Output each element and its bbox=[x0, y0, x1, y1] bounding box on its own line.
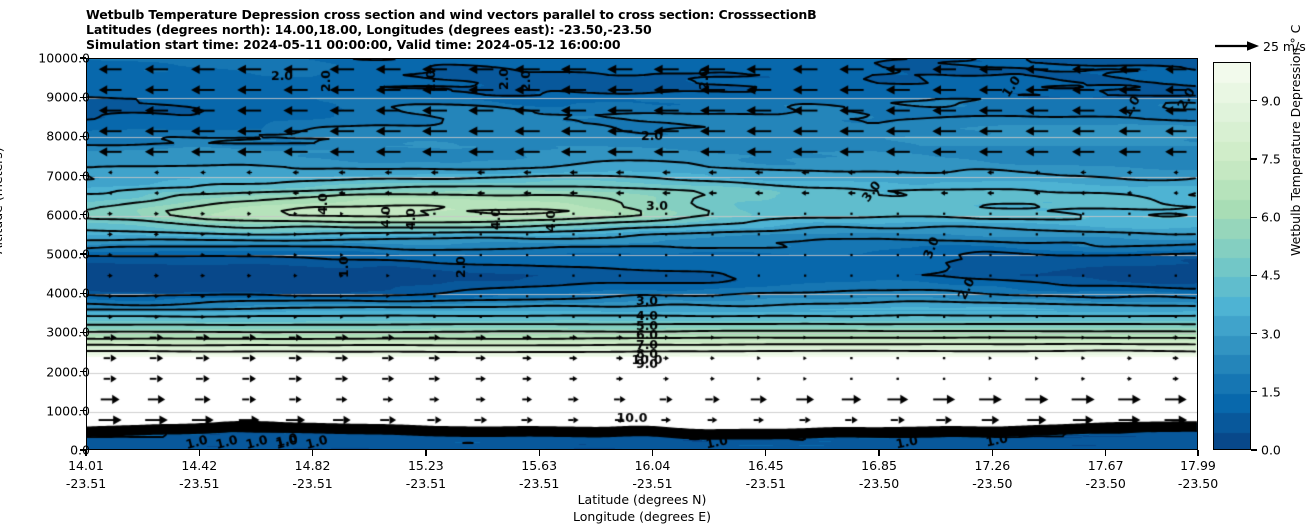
colorbar-tick-mark bbox=[1251, 275, 1257, 276]
x-tick-latitude: 14.01 bbox=[66, 458, 106, 473]
colorbar-tick-label: 9.0 bbox=[1261, 93, 1281, 108]
y-axis-tick-mark bbox=[80, 175, 86, 176]
x-axis-tick-label: 16.45-23.51 bbox=[746, 458, 786, 491]
x-axis-tick-mark bbox=[652, 450, 653, 456]
colorbar-tick-label: 1.5 bbox=[1261, 384, 1281, 399]
x-axis-tick-label: 14.82-23.51 bbox=[292, 458, 332, 491]
x-tick-latitude: 14.82 bbox=[292, 458, 332, 473]
x-tick-longitude: -23.51 bbox=[746, 476, 786, 491]
y-axis-tick-mark bbox=[80, 136, 86, 137]
y-axis-label: Altitude (meters) bbox=[0, 147, 5, 254]
x-axis-tick-mark bbox=[539, 450, 540, 456]
quiver-key-label: 25 m/s bbox=[1263, 39, 1306, 54]
x-axis-tick-label: 15.63-23.51 bbox=[519, 458, 559, 491]
x-tick-longitude: -23.51 bbox=[406, 476, 446, 491]
x-axis-tick-mark bbox=[85, 450, 86, 456]
x-axis-tick-mark bbox=[765, 450, 766, 456]
x-axis-tick-mark bbox=[425, 450, 426, 456]
colorbar-title: Wetbulb Temperature Depression ° C bbox=[1288, 25, 1303, 256]
x-tick-longitude: -23.51 bbox=[632, 476, 672, 491]
figure-title: Wetbulb Temperature Depression cross sec… bbox=[86, 7, 817, 52]
title-line-3: Simulation start time: 2024-05-11 00:00:… bbox=[86, 37, 817, 52]
colorbar-tick-mark bbox=[1251, 100, 1257, 101]
quiver-key: 25 m/s bbox=[1213, 38, 1312, 56]
colorbar-tick-label: 7.5 bbox=[1261, 152, 1281, 167]
x-tick-latitude: 17.67 bbox=[1086, 458, 1126, 473]
x-axis-tick-mark bbox=[878, 450, 879, 456]
x-axis-tick-mark bbox=[1197, 450, 1198, 456]
colorbar-canvas bbox=[1214, 63, 1251, 450]
y-axis-tick-mark bbox=[80, 293, 86, 294]
x-tick-latitude: 17.99 bbox=[1178, 458, 1218, 473]
x-tick-latitude: 16.04 bbox=[632, 458, 672, 473]
x-axis-tick-mark bbox=[312, 450, 313, 456]
cross-section-plot bbox=[86, 58, 1198, 450]
x-tick-longitude: -23.51 bbox=[292, 476, 332, 491]
colorbar-tick-label: 3.0 bbox=[1261, 326, 1281, 341]
cross-section-canvas bbox=[87, 59, 1198, 450]
x-axis-tick-mark bbox=[199, 450, 200, 456]
x-axis-tick-label: 14.01-23.51 bbox=[66, 458, 106, 491]
y-axis-tick-mark bbox=[80, 253, 86, 254]
x-tick-latitude: 16.85 bbox=[859, 458, 899, 473]
x-tick-longitude: -23.50 bbox=[1086, 476, 1126, 491]
colorbar-tick-mark bbox=[1251, 449, 1257, 450]
figure-root: Wetbulb Temperature Depression cross sec… bbox=[0, 0, 1312, 526]
x-axis-tick-label: 15.23-23.51 bbox=[406, 458, 446, 491]
x-axis-tick-label: 16.04-23.51 bbox=[632, 458, 672, 491]
y-axis-tick-mark bbox=[80, 57, 86, 58]
colorbar-tick-mark bbox=[1251, 158, 1257, 159]
x-axis-tick-label: 17.99-23.50 bbox=[1178, 458, 1218, 491]
x-tick-latitude: 15.63 bbox=[519, 458, 559, 473]
colorbar-tick-mark bbox=[1251, 391, 1257, 392]
title-line-2: Latitudes (degrees north): 14.00,18.00, … bbox=[86, 22, 817, 37]
x-tick-longitude: -23.51 bbox=[519, 476, 559, 491]
y-axis-tick-mark bbox=[80, 332, 86, 333]
x-tick-longitude: -23.50 bbox=[859, 476, 899, 491]
x-tick-latitude: 16.45 bbox=[746, 458, 786, 473]
y-axis-tick-mark bbox=[80, 371, 86, 372]
x-axis-tick-label: 16.85-23.50 bbox=[859, 458, 899, 491]
x-tick-latitude: 14.42 bbox=[179, 458, 219, 473]
x-tick-longitude: -23.51 bbox=[179, 476, 219, 491]
colorbar-tick-label: 0.0 bbox=[1261, 443, 1281, 458]
x-axis-label-latitude: Latitude (degrees N) bbox=[578, 492, 707, 507]
x-axis-tick-label: 17.26-23.50 bbox=[972, 458, 1012, 491]
x-tick-longitude: -23.50 bbox=[1178, 476, 1218, 491]
x-tick-longitude: -23.50 bbox=[972, 476, 1012, 491]
x-axis-tick-mark bbox=[1105, 450, 1106, 456]
colorbar-tick-label: 4.5 bbox=[1261, 268, 1281, 283]
colorbar-tick-label: 6.0 bbox=[1261, 210, 1281, 225]
x-axis-tick-label: 17.67-23.50 bbox=[1086, 458, 1126, 491]
x-axis-tick-mark bbox=[992, 450, 993, 456]
y-axis-tick-mark bbox=[80, 410, 86, 411]
colorbar-tick-mark bbox=[1251, 333, 1257, 334]
title-line-1: Wetbulb Temperature Depression cross sec… bbox=[86, 7, 817, 22]
x-axis-tick-label: 14.42-23.51 bbox=[179, 458, 219, 491]
colorbar-tick-mark bbox=[1251, 217, 1257, 218]
colorbar bbox=[1213, 62, 1251, 450]
x-tick-latitude: 15.23 bbox=[406, 458, 446, 473]
y-axis-tick-mark bbox=[80, 214, 86, 215]
x-tick-longitude: -23.51 bbox=[66, 476, 106, 491]
x-axis-label-longitude: Longitude (degrees E) bbox=[573, 509, 711, 524]
y-axis-tick-mark bbox=[80, 97, 86, 98]
x-tick-latitude: 17.26 bbox=[972, 458, 1012, 473]
wind-arrow-icon bbox=[1213, 38, 1263, 56]
